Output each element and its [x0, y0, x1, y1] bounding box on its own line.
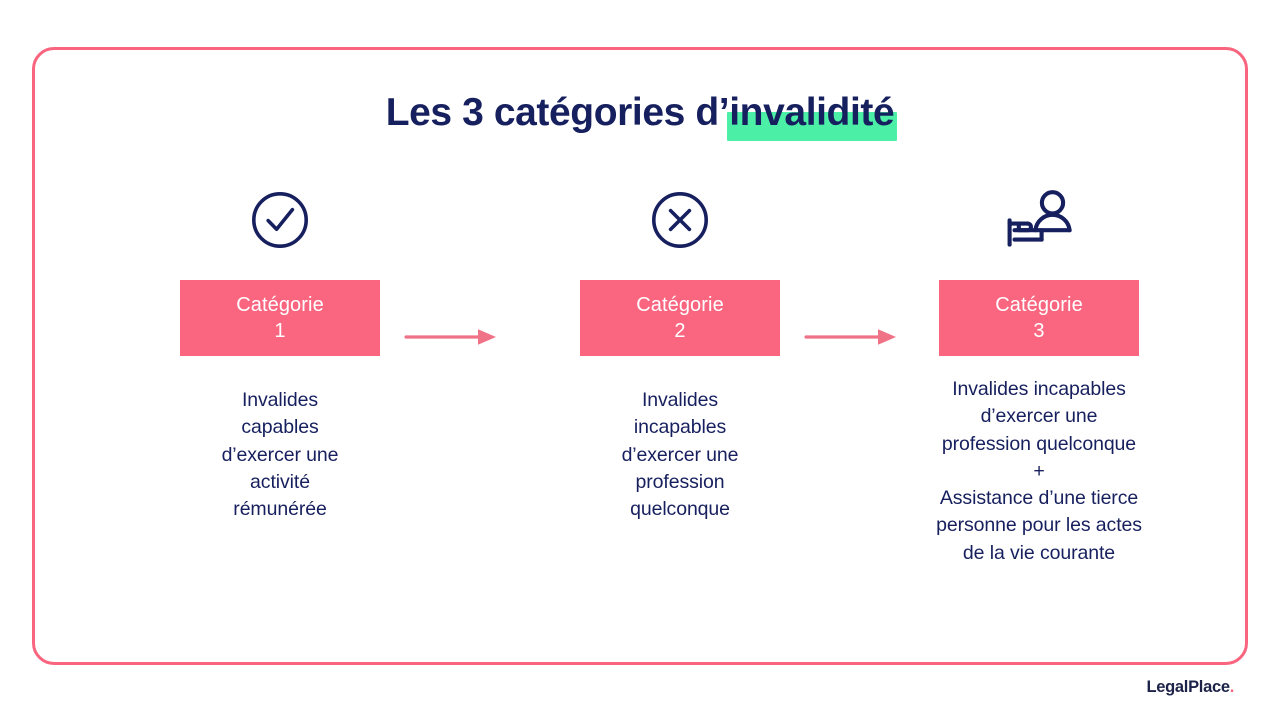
legalplace-logo: LegalPlace. — [1146, 678, 1234, 697]
person-in-bed-icon — [887, 180, 1191, 260]
category-column-1: Catégorie 1 Invalides capables d’exercer… — [128, 180, 432, 523]
category-description-3: Invalides incapables d’exercer une profe… — [887, 376, 1191, 567]
check-circle-icon — [128, 180, 432, 260]
categories-row: Catégorie 1 Invalides capables d’exercer… — [32, 180, 1248, 610]
logo-text: LegalPlace — [1146, 678, 1229, 696]
category-box-3[interactable]: Catégorie 3 — [939, 280, 1139, 356]
category-column-2: Catégorie 2 Invalides incapables d’exerc… — [528, 180, 832, 523]
category-box-number: 3 — [1033, 318, 1044, 344]
arrow-category-2-to-3 — [804, 325, 900, 349]
category-box-1[interactable]: Catégorie 1 — [180, 280, 380, 356]
slide-canvas: Les 3 catégories d’invalidité Catégorie … — [0, 0, 1280, 720]
category-column-3: Catégorie 3 Invalides incapables d’exerc… — [887, 180, 1191, 567]
arrow-category-1-to-2 — [404, 325, 500, 349]
category-box-label: Catégorie — [636, 292, 724, 318]
category-box-label: Catégorie — [236, 292, 324, 318]
category-box-label: Catégorie — [995, 292, 1083, 318]
category-box-2[interactable]: Catégorie 2 — [580, 280, 780, 356]
category-box-number: 2 — [674, 318, 685, 344]
logo-dot: . — [1230, 678, 1234, 696]
x-circle-icon — [528, 180, 832, 260]
category-box-number: 1 — [274, 318, 285, 344]
category-description-1: Invalides capables d’exercer une activit… — [128, 387, 432, 523]
category-description-2: Invalides incapables d’exercer une profe… — [528, 387, 832, 523]
